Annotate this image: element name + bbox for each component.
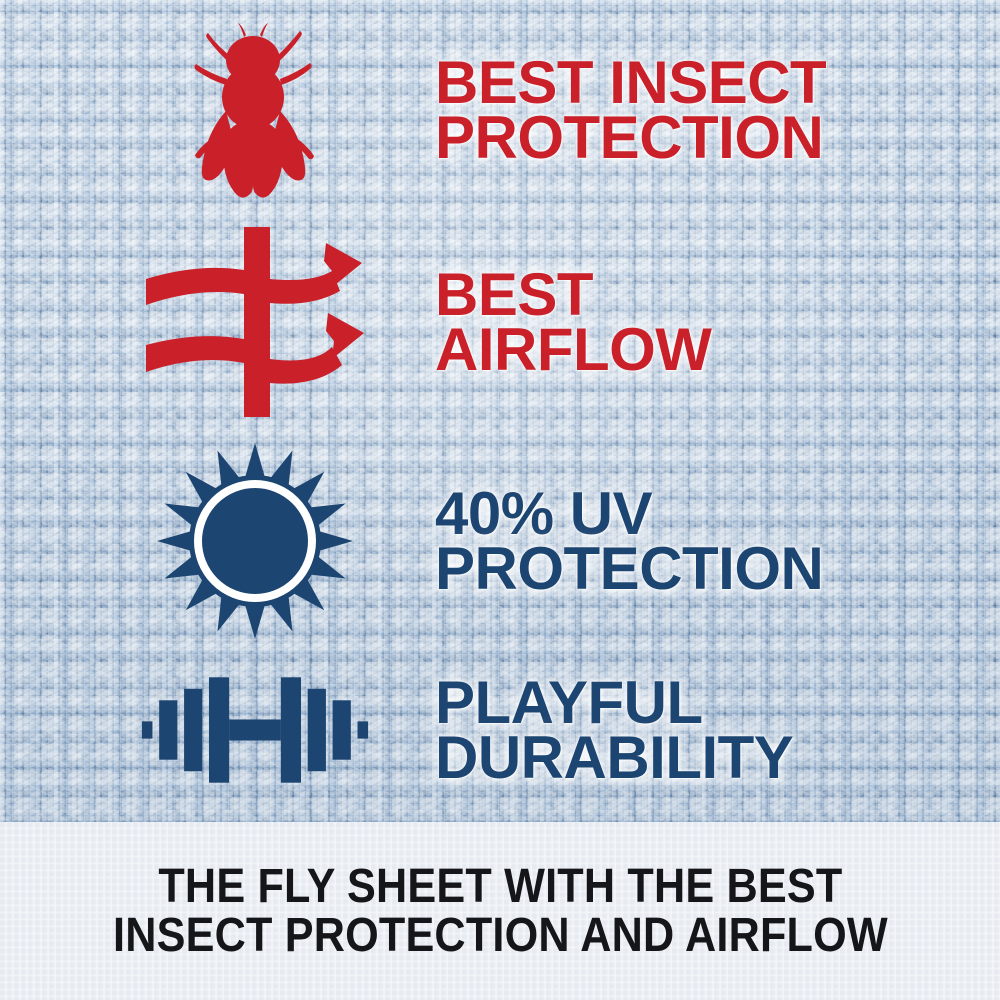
feature-text-cell-uv-protection: 40% UV PROTECTION: [435, 486, 823, 596]
caption-band: THE FLY SHEET WITH THE BEST INSECT PROTE…: [0, 822, 1000, 1000]
feature-row-uv-protection: 40% UV PROTECTION: [140, 436, 1000, 646]
feature-headline-insect-protection: BEST INSECT PROTECTION: [435, 55, 826, 165]
fly-icon-container: [140, 15, 370, 205]
infographic-page: BEST INSECT PROTECTION: [0, 0, 1000, 1000]
sunburst-rays: [157, 443, 353, 639]
sun-icon-container: [140, 439, 370, 644]
feature-headline-uv-protection: 40% UV PROTECTION: [435, 486, 823, 596]
feature-row-airflow: BEST AIRFLOW: [140, 222, 1000, 422]
feature-row-insect-protection: BEST INSECT PROTECTION: [140, 10, 1000, 210]
caption-text: THE FLY SHEET WITH THE BEST INSECT PROTE…: [113, 862, 888, 961]
feature-text-cell-durability: PLAYFUL DURABILITY: [435, 675, 793, 785]
feature-headline-airflow: BEST AIRFLOW: [435, 267, 711, 377]
dumbbell-icon-container: [140, 648, 370, 813]
feature-row-durability: PLAYFUL DURABILITY: [140, 640, 1000, 820]
airflow-arrows-icon-container: [140, 225, 370, 420]
dumbbell-icon: [140, 665, 370, 795]
feature-headline-durability: PLAYFUL DURABILITY: [435, 675, 793, 785]
fly-icon: [170, 15, 340, 205]
airflow-arrows-icon: [144, 227, 366, 417]
feature-text-cell-insect-protection: BEST INSECT PROTECTION: [435, 55, 826, 165]
feature-text-cell-airflow: BEST AIRFLOW: [435, 267, 711, 377]
sun-icon: [155, 441, 355, 641]
